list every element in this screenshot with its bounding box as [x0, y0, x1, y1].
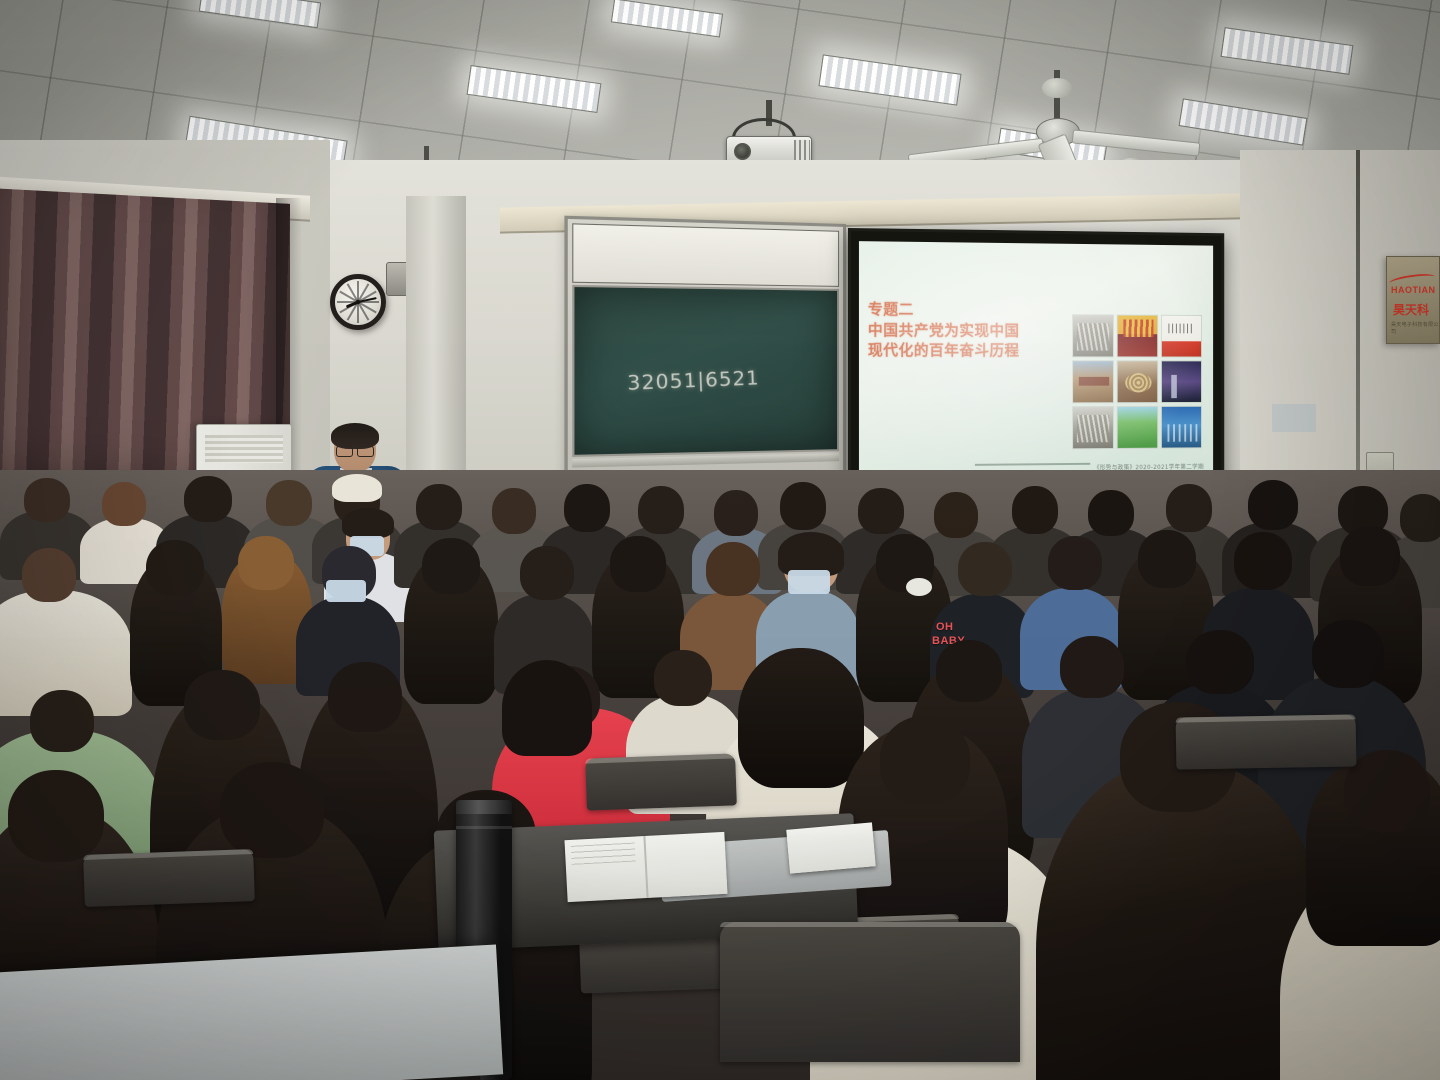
- slide-thumbnail-crowd-black-white: [1072, 314, 1114, 357]
- slide-title-line-1: 专题二: [868, 299, 1077, 321]
- slide-thumbnail-green-farm-field: [1117, 406, 1158, 449]
- hair: [342, 508, 394, 538]
- notebook-spine: [643, 836, 648, 898]
- thermos-cap: [456, 800, 512, 814]
- slide-title-line-3: 现代化的百年奋斗历程: [868, 340, 1077, 361]
- sign-english-text: HAOTIAN: [1391, 285, 1436, 295]
- wall-brand-sign: HAOTIAN 昊天科 昊天电子科技有限公司: [1386, 256, 1440, 344]
- hair-tie: [906, 578, 932, 596]
- chair-back-foreground: [720, 922, 1020, 1062]
- clock-face: [338, 282, 378, 322]
- blackboard-writing-surface: 32051|6521: [572, 285, 839, 457]
- chair-back: [585, 753, 737, 810]
- chair-back: [83, 849, 255, 907]
- slide-title-block: 专题二 中国共产党为实现中国 现代化的百年奋斗历程: [868, 299, 1077, 361]
- sign-chinese-text: 昊天科: [1393, 301, 1429, 318]
- wall-notice-paper: [1272, 404, 1316, 432]
- blackboard-upper-panel: [572, 223, 839, 287]
- slide-footer-rule: [975, 463, 1090, 466]
- face-mask: [788, 570, 830, 594]
- glasses-icon: [336, 446, 374, 455]
- oh-baby-text-line-1: OH: [936, 622, 954, 634]
- knit-hat: [332, 474, 382, 502]
- paper-sheet: [786, 822, 876, 873]
- student-audience: OH BABY: [0, 470, 1440, 1080]
- slide-thumbnail-blue-sky-gathering: [1161, 406, 1202, 449]
- slide-thumbnail-grid: [1072, 314, 1206, 449]
- slide-thumbnail-historic-crowd: [1072, 406, 1114, 449]
- classroom-photo: 32051|6521 专题二 中国共产党为实现中国 现代化的百年奋斗历程: [0, 0, 1440, 1080]
- sign-subtitle-text: 昊天电子科技有限公司: [1391, 321, 1439, 335]
- slide-thumbnail-tiananmen-gate: [1072, 360, 1114, 403]
- slide-thumbnail-ancient-terraces-aerial: [1117, 360, 1158, 403]
- ceiling-fan-canopy: [1042, 78, 1072, 98]
- projected-slide: 专题二 中国共产党为实现中国 现代化的百年奋斗历程 《形势与政策》2020-20…: [859, 241, 1213, 491]
- projector-lens: [734, 143, 751, 160]
- slide-thumbnail-city-skyline-night: [1161, 360, 1202, 403]
- air-conditioner-grille: [205, 435, 283, 463]
- open-notebook: [564, 832, 727, 902]
- wall-pillar: [406, 196, 466, 496]
- blackboard: 32051|6521: [564, 216, 846, 495]
- chair-back: [1176, 714, 1357, 769]
- notebook-ruled-lines: [571, 843, 636, 865]
- wall-clock: [330, 274, 386, 330]
- slide-thumbnail-party-document-red-banner: [1161, 315, 1202, 358]
- slide-title-line-2: 中国共产党为实现中国: [868, 320, 1077, 341]
- face-mask: [326, 580, 366, 602]
- blackboard-chalk-text: 32051|6521: [627, 367, 760, 395]
- slide-thumbnail-party-congress-flags: [1117, 315, 1158, 358]
- projector-vent: [794, 140, 810, 162]
- thermos-ring: [456, 826, 512, 829]
- clock-center-pin: [356, 300, 360, 304]
